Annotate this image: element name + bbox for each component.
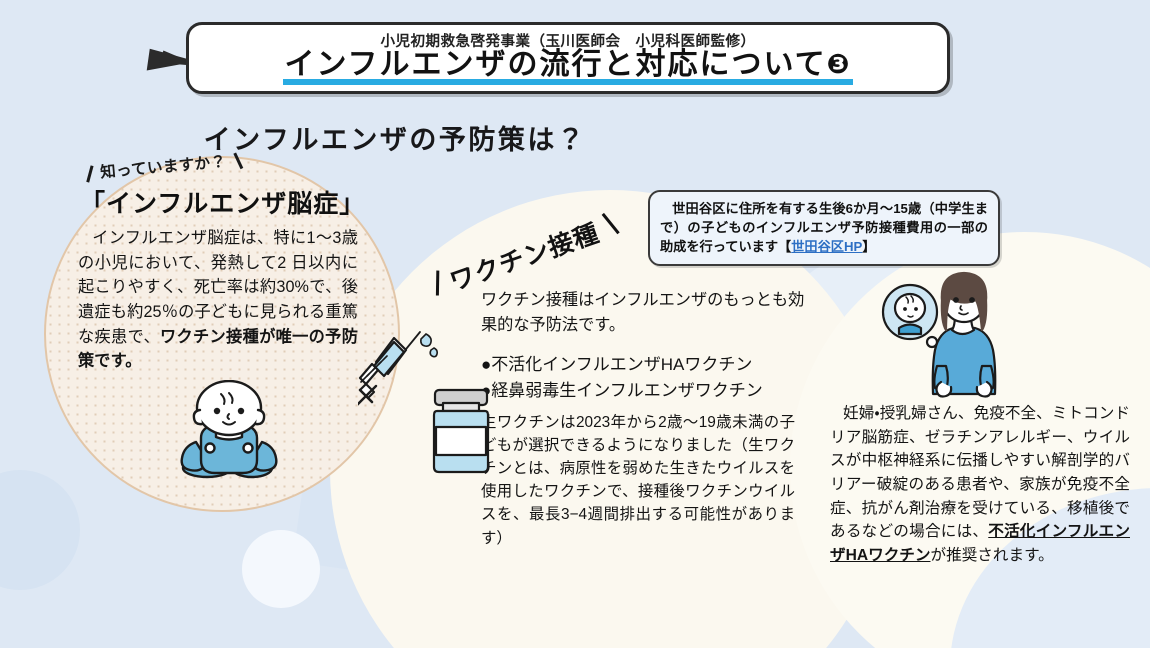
setagaya-subsidy-note: 世田谷区に住所を有する生後6か月〜15歳（中学生まで）の子どものインフルエンザ予… <box>648 190 1000 266</box>
center-intro-text: ワクチン接種はインフルエンザのもっとも効果的な予防法です。 <box>481 288 811 339</box>
right-paragraph: 妊婦・授乳婦さん、免疫不全、ミトコンドリア脳筋症、ゼラチンアレルギー、ウイルスが… <box>830 402 1130 568</box>
left-hand-label-text: 知っていますか？ <box>100 154 227 182</box>
left-section-body: インフルエンザ脳症は、特に1〜3歳の小児において、発熱して2 日以内に起こりやす… <box>78 226 358 374</box>
banner-underline <box>283 79 852 85</box>
banner-number-badge: ❸ <box>827 49 852 79</box>
note-text-after: 】 <box>862 239 875 254</box>
setagaya-note-text: 世田谷区に住所を有する生後6か月〜15歳（中学生まで）の子どものインフルエンザ予… <box>660 199 988 256</box>
page-title: インフルエンザの予防策は？ <box>0 118 1150 157</box>
decorative-circle-blue-left <box>0 470 80 590</box>
baby-illustration <box>168 380 278 485</box>
left-section-title: 「インフルエンザ脳症」 <box>80 184 378 220</box>
vaccine-type-list: ●不活化インフルエンザHAワクチン ●経鼻弱毒生インフルエンザワクチン <box>481 352 821 404</box>
list-item: ●経鼻弱毒生インフルエンザワクチン <box>481 378 821 404</box>
slash-left-icon <box>86 165 93 182</box>
banner-title-text: インフルエンザの流行と対応について <box>284 48 826 81</box>
vaccine-vial-illustration <box>425 385 497 475</box>
left-section: 知っていますか？ 「インフルエンザ脳症」 インフルエンザ脳症は、特に1〜3歳の小… <box>78 155 378 374</box>
banner-title: インフルエンザの流行と対応について❸ <box>280 49 855 86</box>
left-hand-label: 知っていますか？ <box>99 150 227 183</box>
center-paragraph: 生ワクチンは2023年から2歳〜19歳未満の子どもが選択できるようになりました（… <box>481 411 795 550</box>
setagaya-hp-link[interactable]: 世田谷区HP <box>791 239 862 254</box>
infographic-canvas: 小児初期救急啓発事業（玉川医師会 小児科医師監修） インフルエンザの流行と対応に… <box>0 0 1150 648</box>
mother-with-baby-thought-illustration <box>875 270 1010 405</box>
right-paragraph-after: が推奨されます。 <box>931 547 1054 564</box>
slash-left-icon <box>436 271 440 296</box>
list-item: ●不活化インフルエンザHAワクチン <box>481 352 821 378</box>
right-paragraph-before: 妊婦・授乳婦さん、免疫不全、ミトコンドリア脳筋症、ゼラチンアレルギー、ウイルスが… <box>830 405 1130 540</box>
page-title-text: インフルエンザの予防策は？ <box>204 118 587 157</box>
header-banner: 小児初期救急啓発事業（玉川医師会 小児科医師監修） インフルエンザの流行と対応に… <box>186 22 950 94</box>
decorative-circle-white-bottom <box>242 530 320 608</box>
slash-right-icon <box>233 153 243 170</box>
